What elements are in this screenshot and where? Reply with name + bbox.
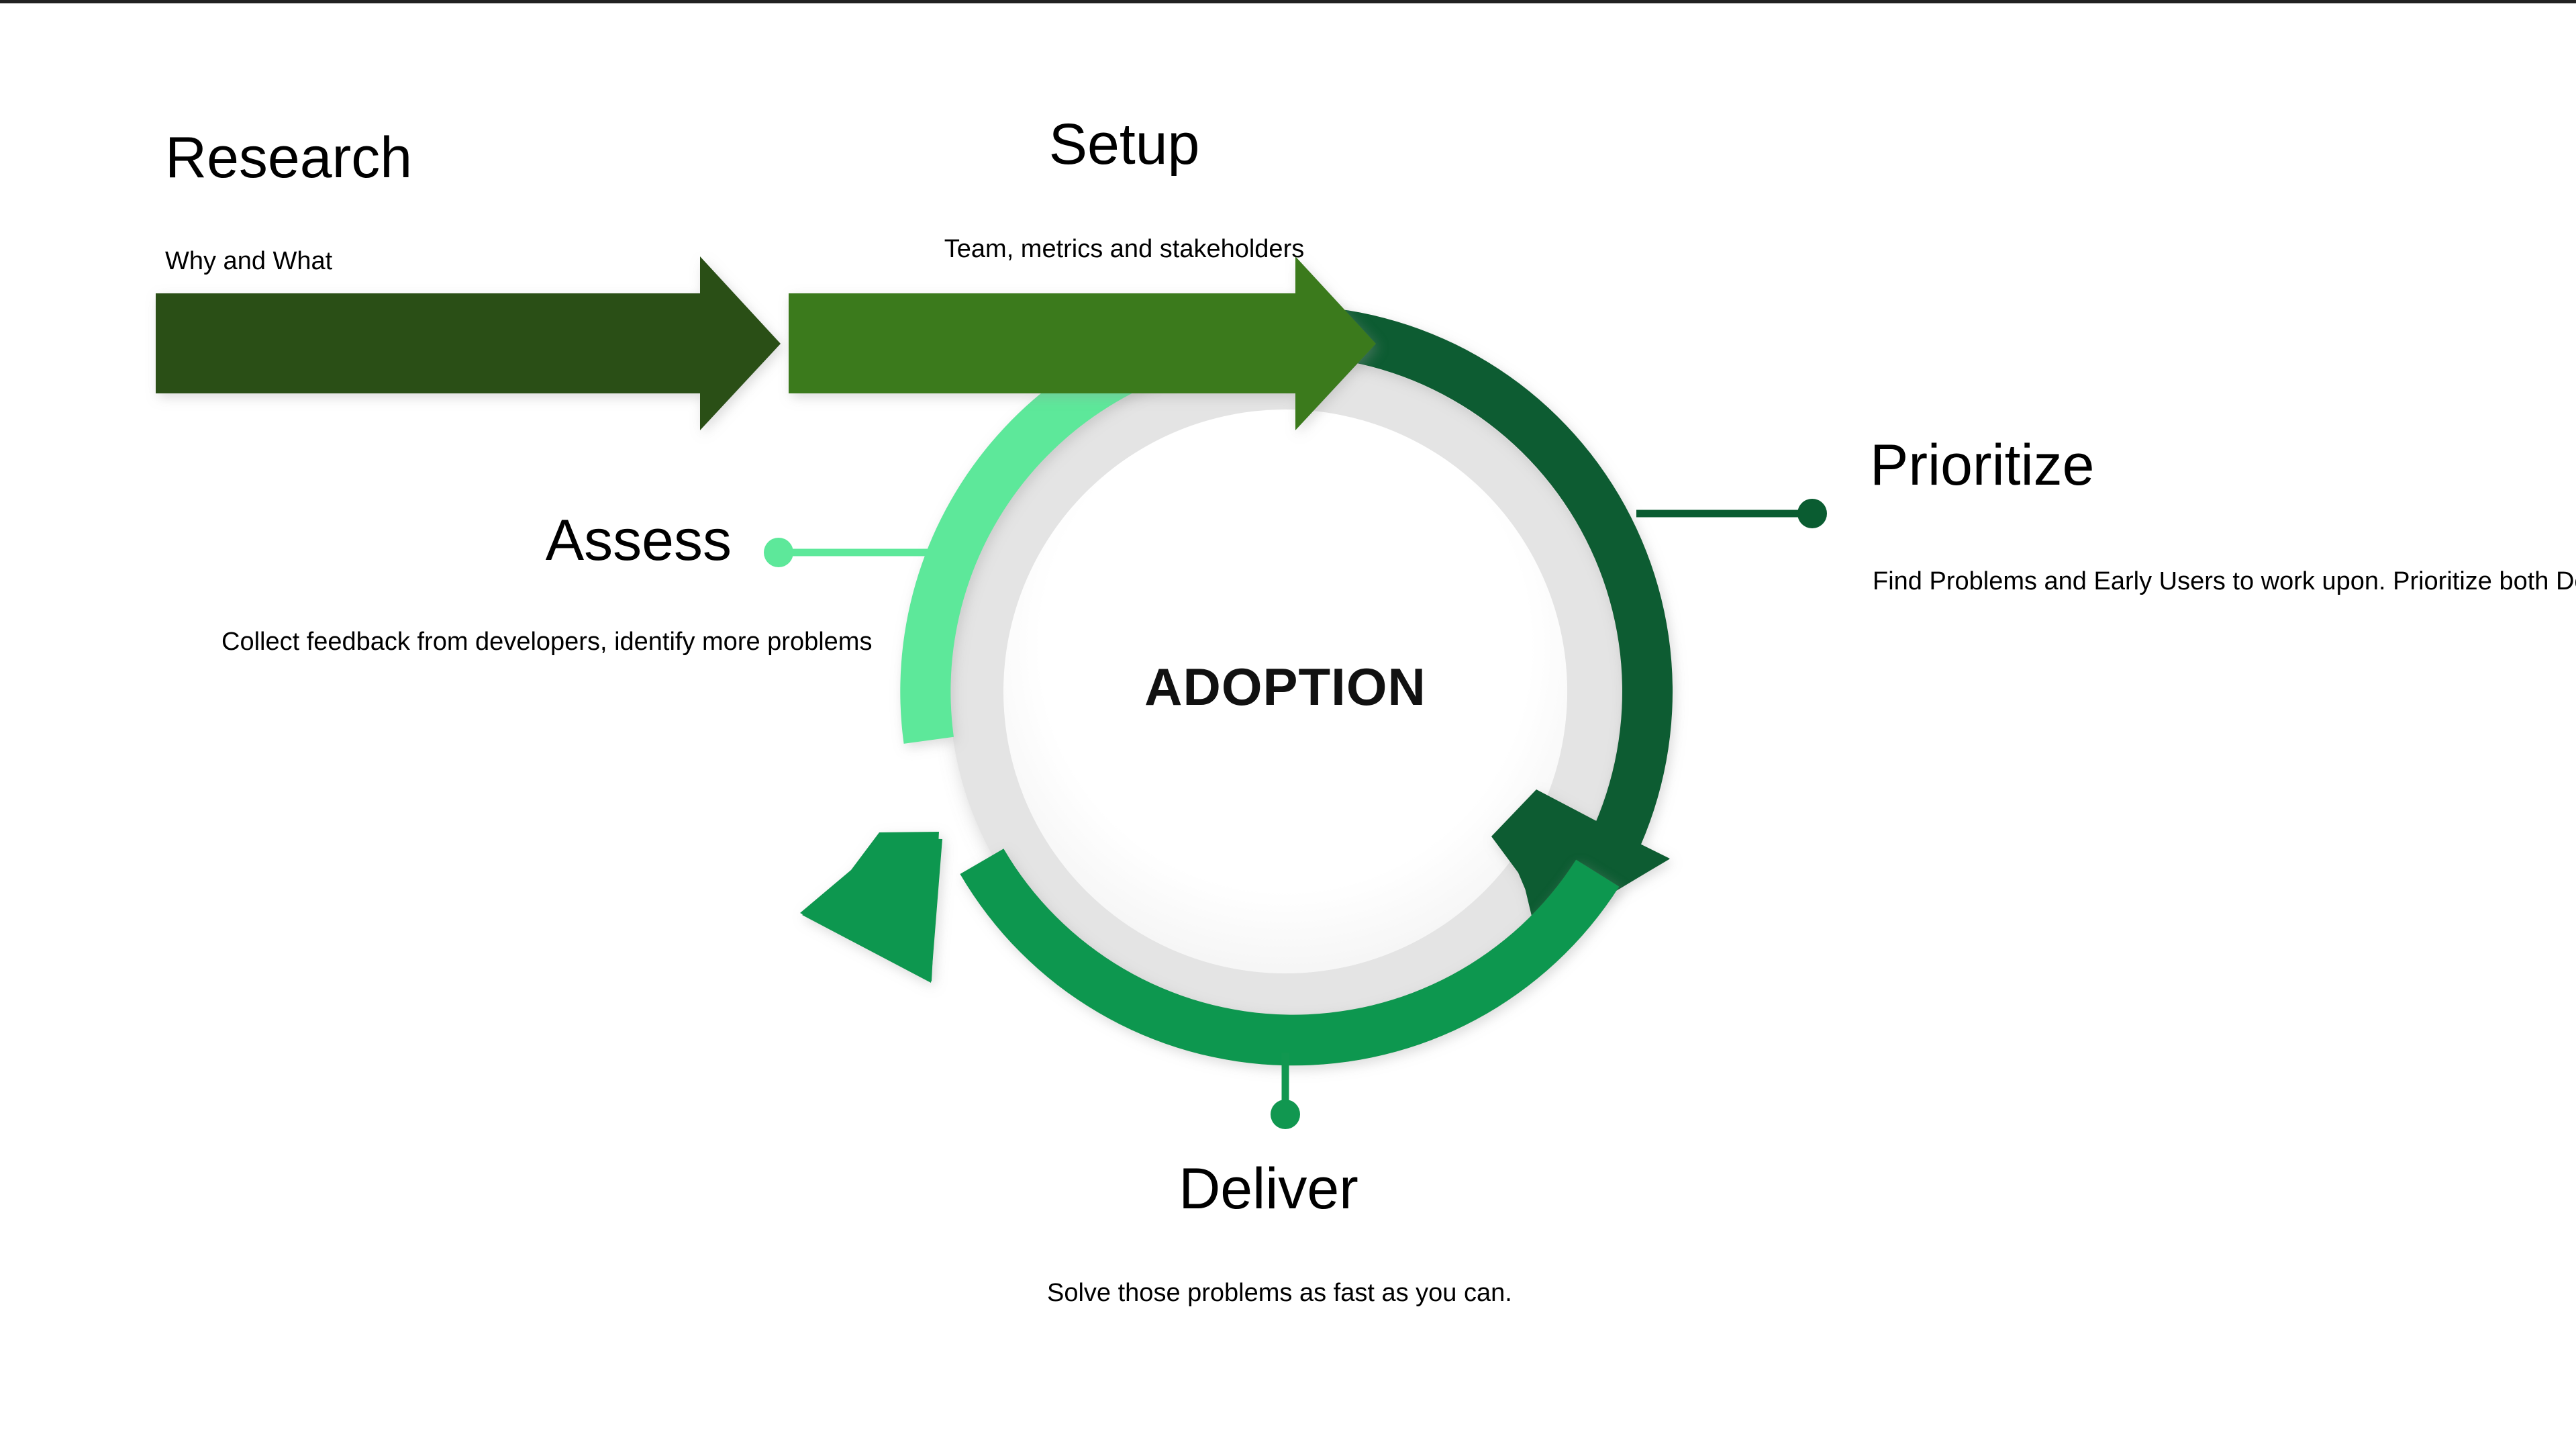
stage-title-setup: Setup — [987, 114, 1262, 175]
deliver-connector-dot — [1271, 1100, 1300, 1129]
stage-description-setup: Team, metrics and stakeholders — [873, 232, 1376, 268]
stage-title-prioritize: Prioritize — [1870, 435, 2095, 495]
prioritize-connector — [1636, 499, 1827, 528]
stage-title-research: Research — [165, 128, 412, 188]
assess-connector — [764, 538, 933, 567]
center-label-adoption: ADOPTION — [1027, 657, 1544, 718]
research-arrow — [156, 256, 781, 430]
stage-description-assess: Collect feedback from developers, identi… — [221, 624, 732, 661]
assess-connector-dot — [764, 538, 793, 567]
stage-description-prioritize: Find Problems and Early Users to work up… — [1873, 564, 2410, 600]
prioritize-connector-dot — [1797, 499, 1827, 528]
diagram-graphics — [0, 0, 2576, 1450]
adoption-cycle-diagram: Research Why and What Setup Team, metric… — [0, 0, 2576, 1450]
stage-description-deliver: Solve those problems as fast as you can. — [1047, 1275, 1490, 1312]
stage-title-deliver: Deliver — [1128, 1159, 1409, 1219]
stage-description-research: Why and What — [165, 244, 332, 280]
stage-title-assess: Assess — [436, 510, 732, 571]
